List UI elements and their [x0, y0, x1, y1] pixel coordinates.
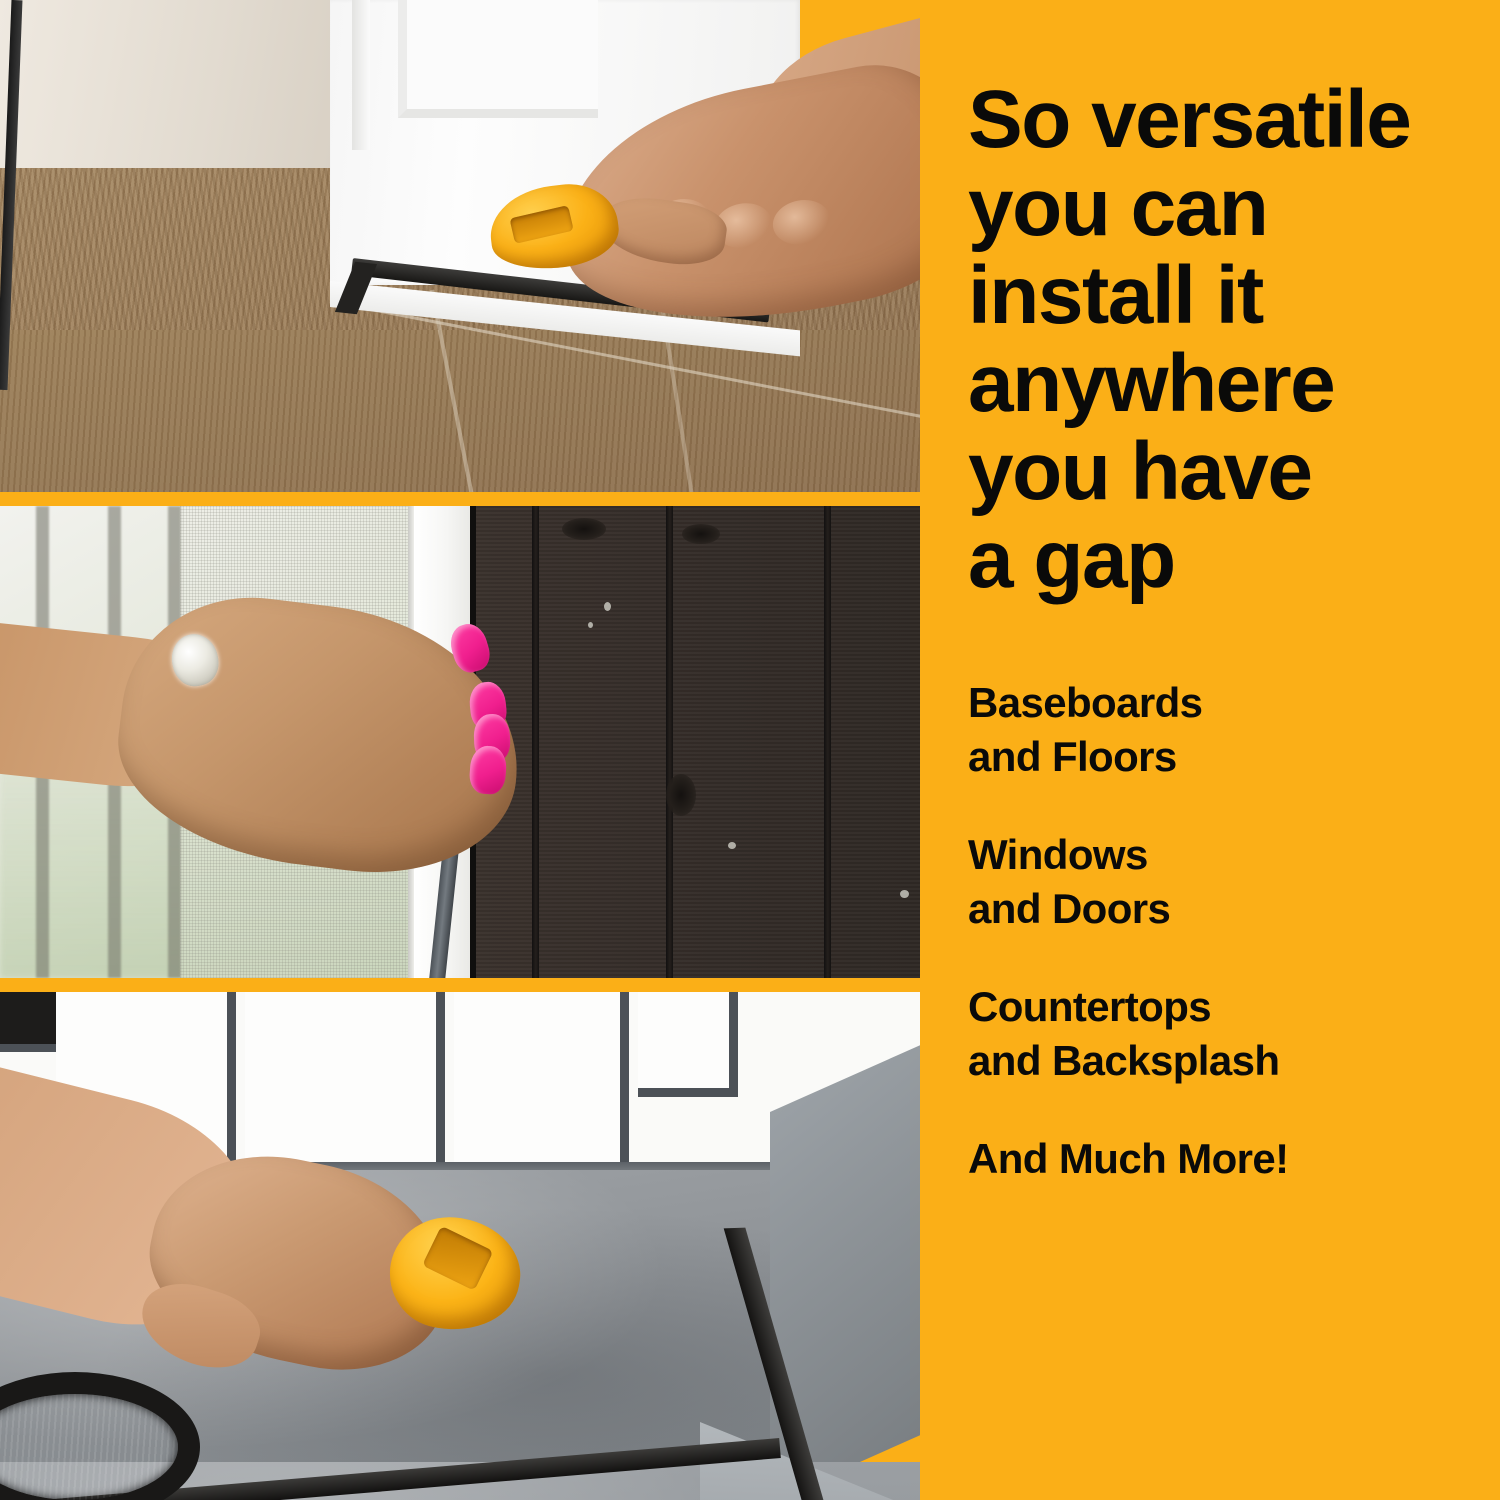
- paint-fleck: [588, 622, 593, 628]
- benefit-line: and Floors: [968, 730, 1488, 784]
- benefit-item-countertops-and-backsplash: Countertops and Backsplash: [968, 980, 1488, 1088]
- siding-plank-seam: [532, 506, 539, 978]
- headline-line: install it: [968, 252, 1488, 340]
- siding-plank-seam: [666, 506, 673, 978]
- dark-tile-corner: [0, 992, 56, 1052]
- headline: So versatile you can install it anywhere…: [968, 76, 1488, 604]
- headline-line: anywhere: [968, 340, 1488, 428]
- text-panel: So versatile you can install it anywhere…: [920, 0, 1500, 1500]
- photo-window-and-door-install: [0, 506, 920, 978]
- paint-fleck: [900, 890, 909, 898]
- product-feature-poster: So versatile you can install it anywhere…: [0, 0, 1500, 1500]
- photo-baseboard-and-floor-install: [0, 0, 920, 492]
- wood-knot: [682, 524, 720, 544]
- paint-fleck: [604, 602, 611, 611]
- benefit-line: Baseboards: [968, 676, 1488, 730]
- benefit-item-windows-and-doors: Windows and Doors: [968, 828, 1488, 936]
- dark-wood-siding: [476, 506, 920, 978]
- siding-plank-seam: [824, 506, 831, 978]
- benefit-line: and Doors: [968, 882, 1488, 936]
- baseboard-trim-edge: [352, 0, 370, 150]
- benefit-line: and Backsplash: [968, 1034, 1488, 1088]
- headline-line: you have: [968, 428, 1488, 516]
- benefit-line: Windows: [968, 828, 1488, 882]
- benefit-line: And Much More!: [968, 1132, 1488, 1186]
- knuckle-highlight: [769, 195, 834, 249]
- benefits-list: Baseboards and Floors Windows and Doors …: [968, 676, 1488, 1186]
- headline-line: a gap: [968, 516, 1488, 604]
- paint-fleck: [728, 842, 736, 849]
- photo-countertop-and-backsplash-install: [0, 992, 920, 1500]
- photo-column: [0, 0, 920, 1500]
- benefit-line: Countertops: [968, 980, 1488, 1034]
- headline-line: So versatile: [968, 76, 1488, 164]
- door-panel-molding: [398, 0, 598, 118]
- white-subway-tile: [638, 992, 738, 1097]
- benefit-item-and-much-more: And Much More!: [968, 1132, 1488, 1186]
- benefit-item-baseboards-and-floors: Baseboards and Floors: [968, 676, 1488, 784]
- headline-line: you can: [968, 164, 1488, 252]
- wood-knot: [666, 774, 696, 816]
- pink-fingernail: [468, 745, 507, 795]
- wood-knot: [562, 518, 606, 540]
- white-subway-tile: [245, 992, 445, 1182]
- white-subway-tile: [454, 992, 629, 1182]
